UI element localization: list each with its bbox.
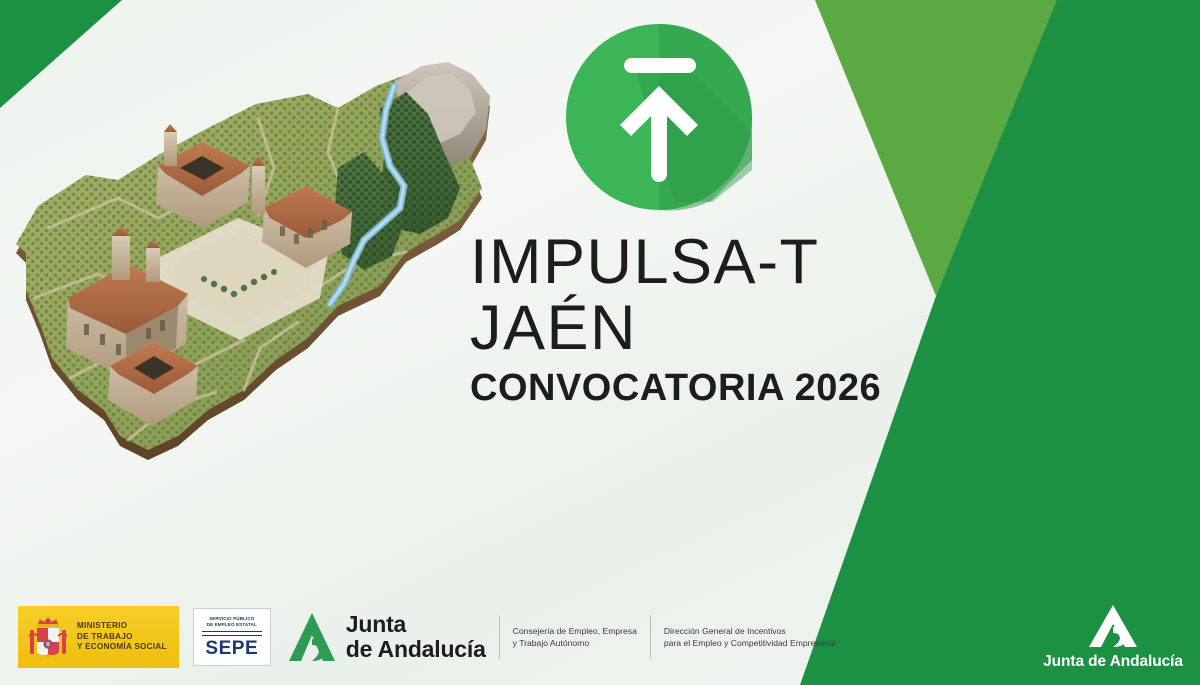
ministerio-line-1: MINISTERIO xyxy=(77,621,167,632)
junta-andalucia-logo-right: Junta de Andalucía xyxy=(1054,603,1172,671)
arrow-up-with-bar-icon xyxy=(562,20,762,220)
ministerio-label: MINISTERIO DE TRABAJO Y ECONOMÍA SOCIAL xyxy=(77,621,167,653)
impulsa-t-jaen-poster: IMPULSA-T JAÉN CONVOCATORIA 2026 xyxy=(0,0,1200,685)
consejeria-label: Consejería de Empleo, Empresa y Trabajo … xyxy=(513,625,637,649)
ministerio-line-3: Y ECONOMÍA SOCIAL xyxy=(77,642,167,653)
jaen-map-illustration xyxy=(8,48,508,478)
junta-andalucia-a-icon xyxy=(1085,603,1141,649)
headline-block: IMPULSA-T JAÉN CONVOCATORIA 2026 xyxy=(470,233,900,407)
direccion-line-2: para el Empleo y Competitividad Empresar… xyxy=(664,637,836,649)
ministerio-logo: MINISTERIO DE TRABAJO Y ECONOMÍA SOCIAL xyxy=(18,606,179,668)
consejeria-line-2: y Trabajo Autónomo xyxy=(513,637,637,649)
footer-bar: MINISTERIO DE TRABAJO Y ECONOMÍA SOCIAL … xyxy=(0,585,1200,685)
junta-andalucia-logo: Junta de Andalucía xyxy=(285,608,486,666)
junta-andalucia-a-icon xyxy=(285,611,339,663)
spain-coat-of-arms-icon xyxy=(28,614,68,660)
sepe-divider-rule xyxy=(202,631,262,636)
headline-line-2: JAÉN xyxy=(470,299,900,359)
junta-line-2: de Andalucía xyxy=(346,637,486,662)
consejeria-line-1: Consejería de Empleo, Empresa xyxy=(513,625,637,637)
footer-divider-1 xyxy=(499,615,500,659)
footer-logo-row: MINISTERIO DE TRABAJO Y ECONOMÍA SOCIAL … xyxy=(18,606,836,668)
junta-line-1: Junta xyxy=(346,612,486,637)
headline-line-3: CONVOCATORIA 2026 xyxy=(470,369,900,407)
sepe-subtitle-line-2: DE EMPLEO ESTATAL xyxy=(207,622,257,628)
sepe-acronym: SEPE xyxy=(205,639,258,658)
direccion-general-label: Dirección General de Incentivos para el … xyxy=(664,625,836,649)
headline-line-1: IMPULSA-T xyxy=(470,233,900,293)
junta-andalucia-label: Junta de Andalucía xyxy=(346,612,486,662)
junta-andalucia-right-label: Junta de Andalucía xyxy=(1043,653,1183,671)
sepe-subtitle: SERVICIO PÚBLICO DE EMPLEO ESTATAL xyxy=(207,616,257,629)
ministerio-line-2: DE TRABAJO xyxy=(77,632,167,643)
impulsa-t-badge xyxy=(562,20,762,220)
footer-divider-2 xyxy=(650,615,651,659)
jaen-map-svg xyxy=(8,48,508,478)
direccion-line-1: Dirección General de Incentivos xyxy=(664,625,836,637)
sepe-logo: SERVICIO PÚBLICO DE EMPLEO ESTATAL SEPE xyxy=(193,608,271,666)
